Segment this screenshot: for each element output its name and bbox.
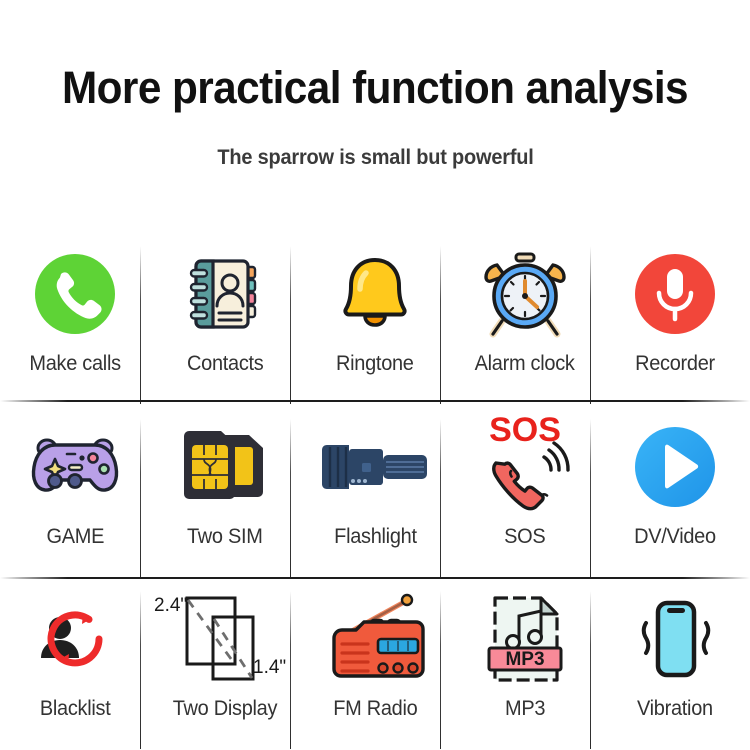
sos-overlay-text: SOS: [489, 411, 561, 449]
microphone-circle-icon: [605, 232, 745, 352]
feature-label: Ringtone: [336, 353, 414, 374]
feature-row-1: Make calls: [0, 232, 750, 405]
grid-divider-vertical: [590, 419, 591, 577]
grid-divider-vertical: [590, 591, 591, 749]
feature-cell-mp3[interactable]: MP3 MP3: [450, 577, 600, 750]
display-size-large-label: 2.4": [154, 595, 187, 616]
page-title: More practical function analysis: [62, 62, 688, 114]
grid-divider-vertical: [140, 591, 141, 749]
grid-divider-horizontal: [0, 400, 750, 402]
feature-label: Make calls: [29, 353, 120, 374]
feature-label: FM Radio: [333, 698, 417, 719]
grid-divider-vertical: [140, 419, 141, 577]
feature-cell-flashlight[interactable]: Flashlight: [300, 405, 450, 578]
play-circle-icon: [605, 405, 745, 525]
feature-cell-contacts[interactable]: Contacts: [150, 232, 300, 405]
feature-row-3: Blacklist 2.4" 1.4" Two Display: [0, 577, 750, 750]
bell-icon: [305, 232, 445, 352]
feature-cell-recorder[interactable]: Recorder: [600, 232, 750, 405]
grid-divider-vertical: [290, 246, 291, 404]
feature-label: Two SIM: [187, 526, 263, 547]
grid-divider-vertical: [140, 246, 141, 404]
two-display-icon: 2.4" 1.4": [155, 577, 295, 697]
grid-divider-vertical: [590, 246, 591, 404]
alarm-clock-icon: [455, 232, 595, 352]
feature-overview-page: More practical function analysis The spa…: [0, 0, 750, 750]
feature-cell-fm-radio[interactable]: FM Radio: [300, 577, 450, 750]
contacts-book-icon: [155, 232, 295, 352]
feature-cell-make-calls[interactable]: Make calls: [0, 232, 150, 405]
radio-icon: [305, 577, 445, 697]
feature-label: GAME: [46, 526, 104, 547]
sos-phone-icon: SOS: [455, 405, 595, 525]
feature-cell-blacklist[interactable]: Blacklist: [0, 577, 150, 750]
feature-label: Recorder: [635, 353, 715, 374]
phone-circle-icon: [5, 232, 145, 352]
grid-divider-vertical: [440, 591, 441, 749]
feature-cell-vibration[interactable]: Vibration: [600, 577, 750, 750]
feature-cell-alarm-clock[interactable]: Alarm clock: [450, 232, 600, 405]
page-subtitle: The sparrow is small but powerful: [217, 146, 533, 170]
feature-label: Vibration: [637, 698, 713, 719]
feature-cell-two-sim[interactable]: Two SIM: [150, 405, 300, 578]
feature-label: SOS: [504, 526, 545, 547]
feature-cell-ringtone[interactable]: Ringtone: [300, 232, 450, 405]
feature-cell-two-display[interactable]: 2.4" 1.4" Two Display: [150, 577, 300, 750]
flashlight-icon: [305, 405, 445, 525]
dual-sim-card-icon: [155, 405, 295, 525]
feature-cell-dv-video[interactable]: DV/Video: [600, 405, 750, 578]
feature-label: MP3: [505, 698, 545, 719]
feature-label: Two Display: [173, 698, 277, 719]
feature-cell-sos[interactable]: SOS SOS: [450, 405, 600, 578]
feature-grid: Make calls: [0, 232, 750, 750]
grid-divider-vertical: [440, 246, 441, 404]
grid-divider-vertical: [440, 419, 441, 577]
feature-label: Contacts: [187, 353, 263, 374]
blacklist-prohibited-person-icon: [5, 577, 145, 697]
grid-divider-vertical: [290, 591, 291, 749]
display-size-small-label: 1.4": [253, 657, 286, 678]
feature-label: Alarm clock: [475, 353, 575, 374]
grid-divider-vertical: [290, 419, 291, 577]
page-header: More practical function analysis The spa…: [0, 0, 750, 232]
feature-cell-game[interactable]: GAME: [0, 405, 150, 578]
mp3-badge-text: MP3: [505, 649, 544, 670]
feature-row-2: GAME: [0, 405, 750, 578]
phone-vibration-icon: [605, 577, 745, 697]
mp3-file-icon: MP3: [455, 577, 595, 697]
feature-label: Blacklist: [40, 698, 111, 719]
gamepad-icon: [5, 405, 145, 525]
feature-label: Flashlight: [334, 526, 417, 547]
feature-label: DV/Video: [634, 526, 716, 547]
